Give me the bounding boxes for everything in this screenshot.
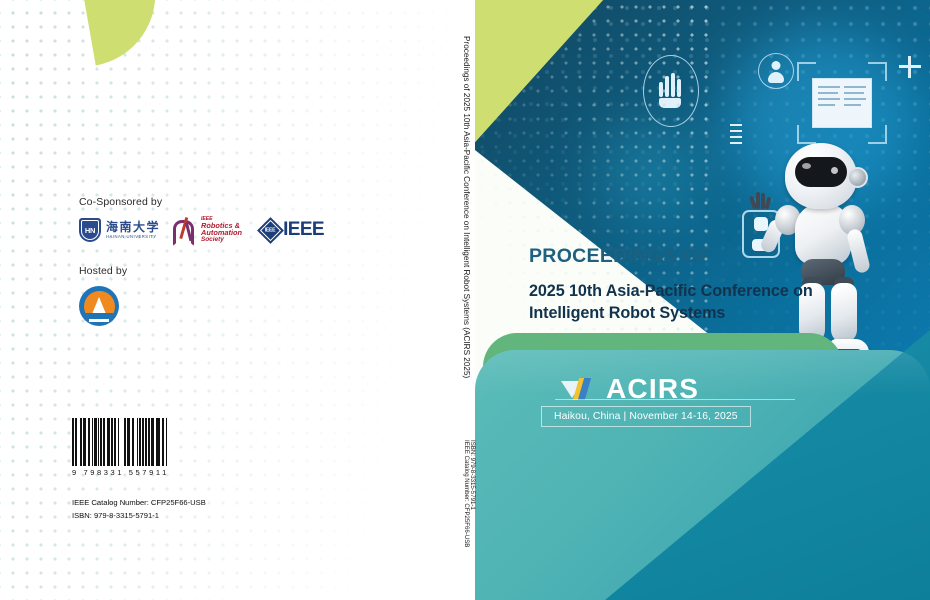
publication-identifiers: IEEE Catalog Number: CFP25F66-USB ISBN: … bbox=[72, 497, 206, 522]
hainan-english-name: HAINAN UNIVERSITY bbox=[106, 235, 160, 239]
barcode-digits: 9 798331 557911 bbox=[72, 468, 206, 477]
ras-emblem-icon bbox=[173, 218, 199, 242]
hainan-university-logo: HN 海南大学 HAINAN UNIVERSITY bbox=[79, 218, 160, 242]
sponsor-logo-row: HN 海南大学 HAINAN UNIVERSITY IEEE Robotics … bbox=[79, 217, 409, 243]
ieee-ras-logo: IEEE Robotics & Automation Society bbox=[173, 217, 242, 244]
book-spine: Proceedings of 2025 10th Asia-Pacific Co… bbox=[460, 0, 475, 600]
spine-title: Proceedings of 2025 10th Asia-Pacific Co… bbox=[462, 36, 471, 378]
ieee-wordmark: IEEE bbox=[283, 219, 324, 241]
conference-title-line-2: Intelligent Robot Systems bbox=[529, 303, 813, 325]
spine-isbn: ISBN: 979-8-3315-5791-1 bbox=[469, 440, 476, 510]
proceedings-eyebrow: PROCEEDINGS OF bbox=[529, 245, 710, 268]
barcode-section: 9 798331 557911 IEEE Catalog Number: CFP… bbox=[72, 418, 206, 522]
robot-left-hand bbox=[751, 191, 771, 215]
document-icon bbox=[812, 78, 872, 128]
hosted-by-section: Hosted by bbox=[79, 265, 127, 326]
host-university-emblem-icon bbox=[79, 286, 119, 326]
conference-title: 2025 10th Asia-Pacific Conference on Int… bbox=[529, 281, 813, 324]
user-profile-icon bbox=[758, 53, 794, 89]
conference-proceedings-cover: Co-Sponsored by HN 海南大学 HAINAN UNIVERSIT… bbox=[0, 0, 930, 600]
co-sponsored-by-label: Co-Sponsored by bbox=[79, 196, 409, 208]
ieee-logo: IEEE IEEE bbox=[261, 219, 324, 241]
front-cover: PROCEEDINGS OF 2025 10th Asia-Pacific Co… bbox=[475, 0, 930, 600]
server-tower-icon bbox=[730, 120, 742, 154]
robot-ear-module bbox=[847, 167, 868, 188]
conference-title-line-1: 2025 10th Asia-Pacific Conference on bbox=[529, 281, 813, 303]
venue-date-badge: Haikou, China | November 14-16, 2025 bbox=[541, 406, 751, 427]
ieee-diamond-icon: IEEE bbox=[257, 217, 284, 244]
robot-face-visor bbox=[795, 157, 847, 187]
hainan-wordmark: 海南大学 HAINAN UNIVERSITY bbox=[106, 221, 160, 239]
ieee-diamond-mark: IEEE bbox=[265, 227, 276, 233]
hainan-chinese-name: 海南大学 bbox=[106, 221, 160, 233]
teal-highlight-overlay bbox=[475, 350, 930, 394]
crosshair-icon bbox=[899, 56, 921, 78]
ras-wordmark: IEEE Robotics & Automation Society bbox=[201, 217, 242, 244]
acirs-mark-icon bbox=[561, 377, 603, 401]
isbn-number: ISBN: 979-8-3315-5791-1 bbox=[72, 510, 206, 523]
ras-line-4: Society bbox=[201, 237, 242, 244]
ieee-catalog-number: IEEE Catalog Number: CFP25F66-USB bbox=[72, 497, 206, 510]
hainan-shield-icon: HN bbox=[79, 218, 101, 242]
isbn-barcode bbox=[72, 418, 172, 466]
robot-right-leg bbox=[831, 283, 857, 343]
acirs-underline-rule bbox=[555, 399, 795, 400]
co-sponsors-section: Co-Sponsored by HN 海南大学 HAINAN UNIVERSIT… bbox=[79, 196, 409, 243]
hainan-shield-mark: HN bbox=[85, 226, 95, 235]
dot-pattern-background bbox=[0, 0, 460, 600]
hosted-by-label: Hosted by bbox=[79, 265, 127, 277]
back-cover: Co-Sponsored by HN 海南大学 HAINAN UNIVERSIT… bbox=[0, 0, 460, 600]
